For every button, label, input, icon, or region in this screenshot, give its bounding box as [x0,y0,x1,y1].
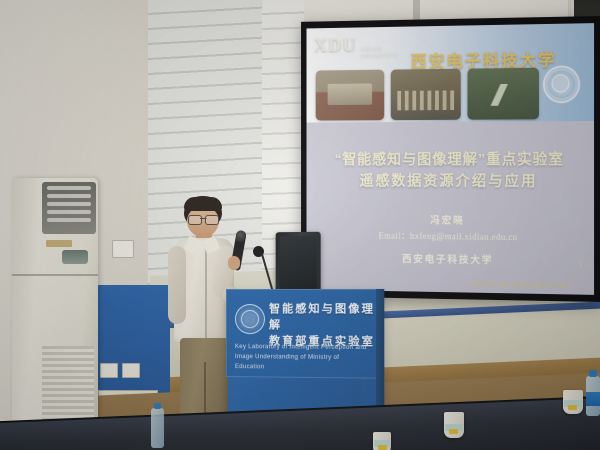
projection-screen-frame: XDU XIDIAN UNIVERSITY 西安电子科技大学 “智能感知与图像理… [301,16,600,302]
lab-seal-icon [235,304,265,334]
hair-front [184,197,222,211]
slide-title: “智能感知与图像理解”重点实验室 遥感数据资源介绍与应用 [307,149,595,193]
water-bottle [151,408,164,448]
slide-page-number: 1 [579,263,582,269]
ac-top-vent [42,182,96,234]
paper-cup [563,390,583,414]
slide-footnote: 智能感知与图像理解教育部重点实验室 [471,281,570,290]
campus-photo-strip [316,68,539,121]
slide-email-value: hxfeng@mail.xidian.edu.cn [410,231,518,242]
floor-air-conditioner-icon [12,178,98,450]
podium-sign-english: Key Laboratory of Intelligent Perception… [235,342,371,373]
slide-email: Email：hxfeng@mail.xidian.edu.cn [307,228,595,244]
power-outlet-icon [112,240,134,258]
campus-building-photo [316,70,385,121]
ac-control-panel [62,250,88,264]
campus-crowd-photo [391,69,461,120]
xdu-logo: XDU XIDIAN UNIVERSITY [314,34,399,61]
slide-title-line-2: 遥感数据资源介绍与应用 [307,171,595,193]
water-bottle [586,376,600,416]
university-seal-icon [543,65,580,103]
xdu-logo-subtitle: XIDIAN UNIVERSITY [360,46,398,60]
arm-left [168,246,186,324]
paper-cup [444,412,464,438]
slide-title-line-1: “智能感知与图像理解”重点实验室 [307,149,595,171]
slide-presenter-name: 冯宏晓 [307,211,595,228]
campus-aerial-photo [467,68,539,120]
projection-screen: XDU XIDIAN UNIVERSITY 西安电子科技大学 “智能感知与图像理… [307,23,595,295]
power-outlet-icon [100,363,118,378]
hand-right [228,256,240,270]
podium-sign-cn-line-1: 智能感知与图像理解 [269,301,377,334]
podium-sign-en-line-2: Image Understanding of Ministry of Educa… [235,352,371,373]
paper-cup [373,432,391,450]
ac-seam [12,274,98,276]
slide-email-label: Email： [379,231,410,241]
ac-badge [46,240,72,247]
eyeglasses-icon [188,215,219,223]
presentation-photo: XDU XIDIAN UNIVERSITY 西安电子科技大学 “智能感知与图像理… [0,0,600,450]
power-outlet-icon [122,363,140,378]
laptop-icon [276,232,321,294]
podium-sign: 智能感知与图像理解 教育部重点实验室 Key Laboratory of Int… [226,289,378,379]
slide-organization: 西安电子科技大学 [307,249,595,268]
xdu-logo-mark: XDU [314,34,357,57]
slide-banner: XDU XIDIAN UNIVERSITY 西安电子科技大学 [307,23,595,122]
slide-body: “智能感知与图像理解”重点实验室 遥感数据资源介绍与应用 冯宏晓 Email：h… [307,121,595,295]
